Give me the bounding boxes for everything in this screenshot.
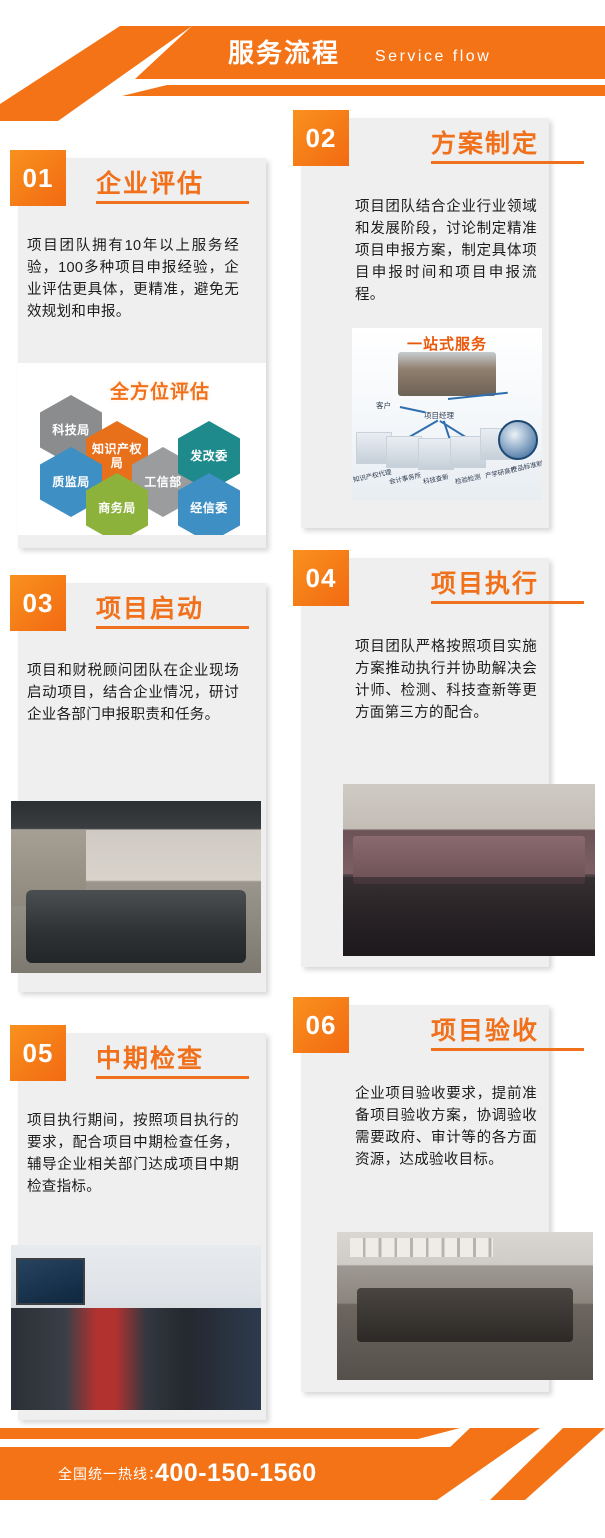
hex-diagram-title: 全方位评估	[110, 377, 210, 404]
hex-node-label: 科技局	[52, 423, 90, 437]
step-number-badge-03: 03	[10, 575, 66, 631]
service-flow-bottom-label: 科技查新	[422, 471, 450, 486]
page-subtitle: Service flow	[375, 44, 491, 70]
step-number-badge-02: 02	[293, 110, 349, 166]
step-title-02: 方案制定	[431, 124, 539, 160]
service-flow-arrow	[400, 406, 426, 413]
hex-diagram: 全方位评估 科技局 知识产权局 质监局 工信部 商务局 发改委 经信委	[18, 363, 266, 535]
service-flow-bottom-label: 会计事务所	[388, 469, 422, 486]
page-title: 服务流程	[228, 36, 340, 70]
service-flow-bottom-label: 知识产权代理	[352, 466, 392, 484]
step-title-06: 项目验收	[431, 1011, 539, 1047]
step-title-underline-01	[96, 201, 249, 204]
hex-node-label: 商务局	[98, 501, 136, 515]
showroom-visit-photo	[11, 1245, 261, 1410]
step-title-underline-04	[431, 601, 584, 604]
step-title-underline-05	[96, 1076, 249, 1079]
step-title-03: 项目启动	[96, 589, 204, 625]
step-body-04: 项目团队严格按照项目实施方案推动执行并协助解决会计师、检测、科技查新等更方面第三…	[355, 636, 537, 724]
hex-node-label: 质监局	[52, 475, 90, 489]
step-number-badge-06: 06	[293, 997, 349, 1053]
step-body-01: 项目团队拥有10年以上服务经验，100多种项目申报经验，企业评估更具体，更精准，…	[27, 235, 239, 323]
service-flow-label-manager: 项目经理	[424, 410, 454, 421]
step-body-03: 项目和财税顾问团队在企业现场启动项目，结合企业情况，研讨企业各部门申报职责和任务…	[27, 660, 239, 726]
service-flow-node	[418, 438, 454, 470]
meeting-room-photo	[11, 801, 261, 973]
service-flow-photo: 一站式服务 客户 项目经理 知识产权代理 会计事务所 科技查新 检验检测 产学研…	[352, 328, 542, 500]
conference-room-photo	[337, 1232, 593, 1380]
step-number-badge-04: 04	[293, 550, 349, 606]
hex-node-label: 工信部	[144, 475, 182, 489]
working-meeting-photo	[343, 784, 595, 956]
service-flow-title: 一站式服务	[407, 333, 487, 354]
hex-node-label: 经信委	[190, 501, 228, 515]
step-number-badge-01: 01	[10, 150, 66, 206]
step-body-02: 项目团队结合企业行业领域和发展阶段，讨论制定精准项目申报方案，制定具体项目申报时…	[355, 196, 537, 306]
page-footer: 全国统一热线： 400-150-1560	[0, 1428, 605, 1538]
service-flow-label-customer: 客户	[376, 400, 391, 411]
step-title-05: 中期检查	[96, 1039, 204, 1075]
step-title-01: 企业评估	[96, 164, 204, 200]
step-body-05: 项目执行期间，按照项目执行的要求，配合项目中期检查任务，辅导企业相关部门达成项目…	[27, 1110, 239, 1198]
page-header: 服务流程 Service flow	[0, 0, 605, 110]
service-flow-certificate-seal	[498, 420, 538, 460]
hex-node-label: 发改委	[190, 449, 228, 463]
step-title-04: 项目执行	[431, 564, 539, 600]
service-flow-bottom-label: 检验检测	[454, 471, 482, 486]
step-body-06: 企业项目验收要求，提前准备项目验收方案，协调验收需要政府、审计等的各方面资源，达…	[355, 1083, 537, 1171]
hotline-number[interactable]: 400-150-1560	[155, 1453, 317, 1493]
step-number-badge-05: 05	[10, 1025, 66, 1081]
step-title-underline-06	[431, 1048, 584, 1051]
step-title-underline-03	[96, 626, 249, 629]
step-title-underline-02	[431, 161, 584, 164]
service-flow-node	[386, 436, 422, 468]
service-flow-hero-image	[398, 352, 496, 396]
hotline-label: 全国统一热线：	[58, 1458, 163, 1490]
